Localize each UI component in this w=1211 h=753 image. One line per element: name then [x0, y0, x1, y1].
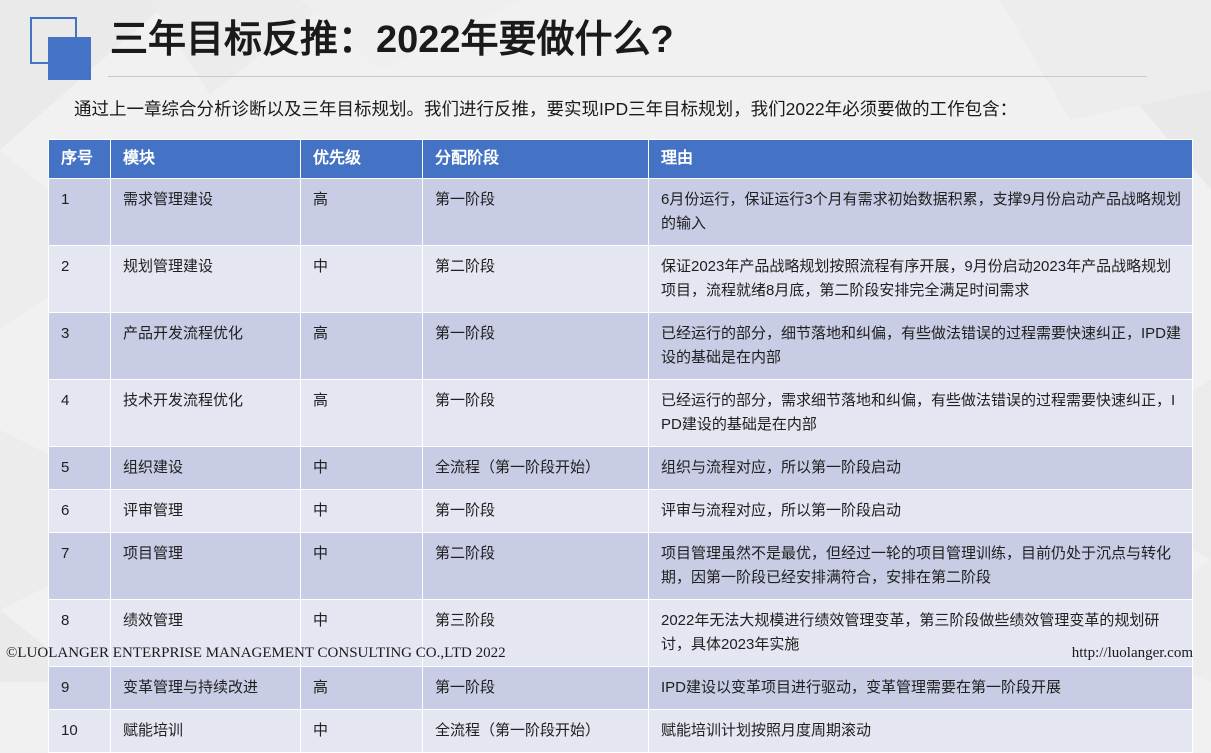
cell-phase: 第一阶段	[423, 667, 649, 710]
cell-reason: 评审与流程对应，所以第一阶段启动	[649, 490, 1193, 533]
cell-phase: 第一阶段	[423, 179, 649, 246]
cell-priority: 中	[301, 533, 423, 600]
table-row: 5组织建设中全流程（第一阶段开始）组织与流程对应，所以第一阶段启动	[49, 447, 1193, 490]
table-row: 4技术开发流程优化高第一阶段已经运行的部分，需求细节落地和纠偏，有些做法错误的过…	[49, 380, 1193, 447]
cell-phase: 全流程（第一阶段开始）	[423, 447, 649, 490]
column-header-module: 模块	[111, 140, 301, 179]
cell-module: 产品开发流程优化	[111, 313, 301, 380]
cell-phase: 全流程（第一阶段开始）	[423, 710, 649, 753]
cell-no: 5	[49, 447, 111, 490]
cell-module: 项目管理	[111, 533, 301, 600]
cell-module: 变革管理与持续改进	[111, 667, 301, 710]
cell-reason: 项目管理虽然不是最优，但经过一轮的项目管理训练，目前仍处于沉点与转化期，因第一阶…	[649, 533, 1193, 600]
table-row: 6评审管理中第一阶段评审与流程对应，所以第一阶段启动	[49, 490, 1193, 533]
cell-module: 组织建设	[111, 447, 301, 490]
cell-reason: 已经运行的部分，需求细节落地和纠偏，有些做法错误的过程需要快速纠正，IPD建设的…	[649, 380, 1193, 447]
footer-copyright: ©LUOLANGER ENTERPRISE MANAGEMENT CONSULT…	[6, 645, 506, 662]
cell-priority: 中	[301, 710, 423, 753]
title-divider	[108, 76, 1147, 77]
table-row: 7项目管理中第二阶段项目管理虽然不是最优，但经过一轮的项目管理训练，目前仍处于沉…	[49, 533, 1193, 600]
cell-priority: 中	[301, 447, 423, 490]
table-body: 1需求管理建设高第一阶段6月份运行，保证运行3个月有需求初始数据积累，支撑9月份…	[49, 179, 1193, 753]
column-header-reason: 理由	[649, 140, 1193, 179]
cell-reason: IPD建设以变革项目进行驱动，变革管理需要在第一阶段开展	[649, 667, 1193, 710]
cell-module: 评审管理	[111, 490, 301, 533]
column-header-no: 序号	[49, 140, 111, 179]
footer-website[interactable]: http://luolanger.com	[1072, 645, 1193, 662]
table-row: 3产品开发流程优化高第一阶段已经运行的部分，细节落地和纠偏，有些做法错误的过程需…	[49, 313, 1193, 380]
table-row: 2规划管理建设中第二阶段保证2023年产品战略规划按照流程有序开展，9月份启动2…	[49, 246, 1193, 313]
table-row: 10赋能培训中全流程（第一阶段开始）赋能培训计划按照月度周期滚动	[49, 710, 1193, 753]
cell-reason: 6月份运行，保证运行3个月有需求初始数据积累，支撑9月份启动产品战略规划的输入	[649, 179, 1193, 246]
cell-no: 7	[49, 533, 111, 600]
cell-no: 9	[49, 667, 111, 710]
cell-priority: 中	[301, 246, 423, 313]
cell-reason: 组织与流程对应，所以第一阶段启动	[649, 447, 1193, 490]
cell-no: 10	[49, 710, 111, 753]
cell-module: 规划管理建设	[111, 246, 301, 313]
cell-no: 3	[49, 313, 111, 380]
cell-priority: 高	[301, 380, 423, 447]
column-header-priority: 优先级	[301, 140, 423, 179]
logo-mark	[30, 17, 92, 79]
cell-reason: 保证2023年产品战略规划按照流程有序开展，9月份启动2023年产品战略规划项目…	[649, 246, 1193, 313]
cell-phase: 第一阶段	[423, 490, 649, 533]
slide-canvas: 三年目标反推：2022年要做什么? 通过上一章综合分析诊断以及三年目标规划。我们…	[0, 0, 1211, 682]
column-header-phase: 分配阶段	[423, 140, 649, 179]
page-title: 三年目标反推：2022年要做什么?	[110, 12, 674, 68]
logo-filled-square-icon	[48, 37, 91, 80]
cell-reason: 已经运行的部分，细节落地和纠偏，有些做法错误的过程需要快速纠正，IPD建设的基础…	[649, 313, 1193, 380]
table-row: 1需求管理建设高第一阶段6月份运行，保证运行3个月有需求初始数据积累，支撑9月份…	[49, 179, 1193, 246]
cell-priority: 高	[301, 667, 423, 710]
cell-phase: 第一阶段	[423, 380, 649, 447]
cell-priority: 高	[301, 179, 423, 246]
cell-phase: 第一阶段	[423, 313, 649, 380]
cell-priority: 高	[301, 313, 423, 380]
cell-module: 需求管理建设	[111, 179, 301, 246]
table-header-row: 序号 模块 优先级 分配阶段 理由	[49, 140, 1193, 179]
cell-no: 2	[49, 246, 111, 313]
cell-no: 6	[49, 490, 111, 533]
cell-module: 技术开发流程优化	[111, 380, 301, 447]
cell-module: 赋能培训	[111, 710, 301, 753]
table-header: 序号 模块 优先级 分配阶段 理由	[49, 140, 1193, 179]
lead-paragraph: 通过上一章综合分析诊断以及三年目标规划。我们进行反推，要实现IPD三年目标规划，…	[74, 96, 1184, 122]
cell-reason: 赋能培训计划按照月度周期滚动	[649, 710, 1193, 753]
cell-no: 4	[49, 380, 111, 447]
cell-phase: 第二阶段	[423, 246, 649, 313]
slide-header: 三年目标反推：2022年要做什么?	[0, 0, 1211, 96]
cell-phase: 第二阶段	[423, 533, 649, 600]
cell-priority: 中	[301, 490, 423, 533]
cell-no: 1	[49, 179, 111, 246]
table-row: 9变革管理与持续改进高第一阶段IPD建设以变革项目进行驱动，变革管理需要在第一阶…	[49, 667, 1193, 710]
